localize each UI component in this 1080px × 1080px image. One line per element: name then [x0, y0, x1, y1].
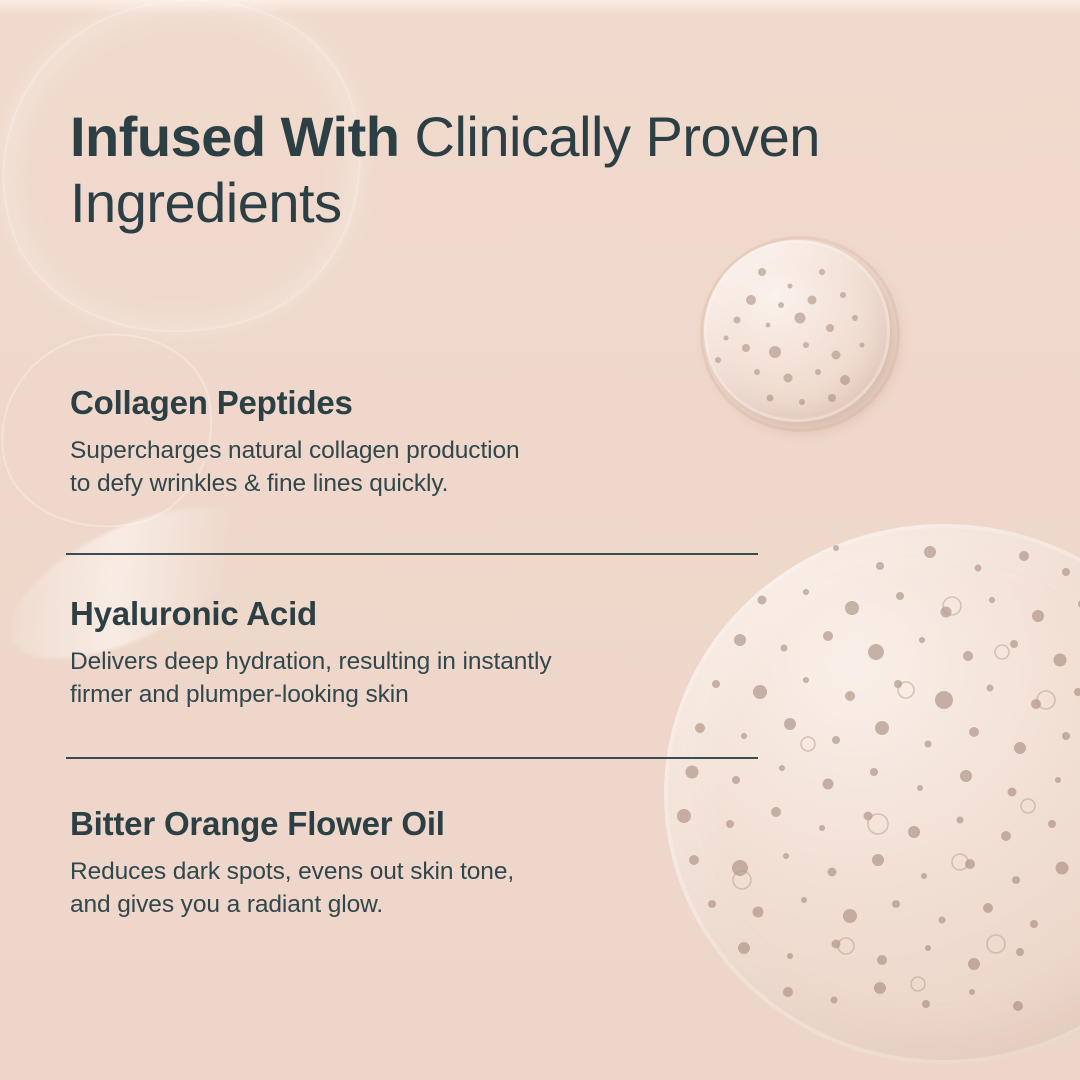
- ingredient-item-collagen-peptides: Collagen Peptides Supercharges natural c…: [70, 385, 770, 500]
- page-title: Infused With Clinically Proven Ingredien…: [70, 104, 830, 235]
- ingredient-description: Delivers deep hydration, resulting in in…: [70, 646, 770, 711]
- ingredient-item-hyaluronic-acid: Hyaluronic Acid Delivers deep hydration,…: [70, 596, 770, 711]
- ingredient-title: Collagen Peptides: [70, 385, 770, 421]
- section-divider: [66, 553, 758, 555]
- ingredient-description: Reduces dark spots, evens out skin tone,…: [70, 856, 770, 921]
- ingredient-description: Supercharges natural collagen production…: [70, 435, 770, 500]
- ingredient-title: Hyaluronic Acid: [70, 596, 770, 632]
- section-divider: [66, 757, 758, 759]
- ingredient-title: Bitter Orange Flower Oil: [70, 806, 770, 842]
- ingredient-item-bitter-orange-flower-oil: Bitter Orange Flower Oil Reduces dark sp…: [70, 806, 770, 921]
- page-title-bold: Infused With: [70, 105, 399, 168]
- promo-canvas: Infused With Clinically Proven Ingredien…: [0, 0, 1080, 1080]
